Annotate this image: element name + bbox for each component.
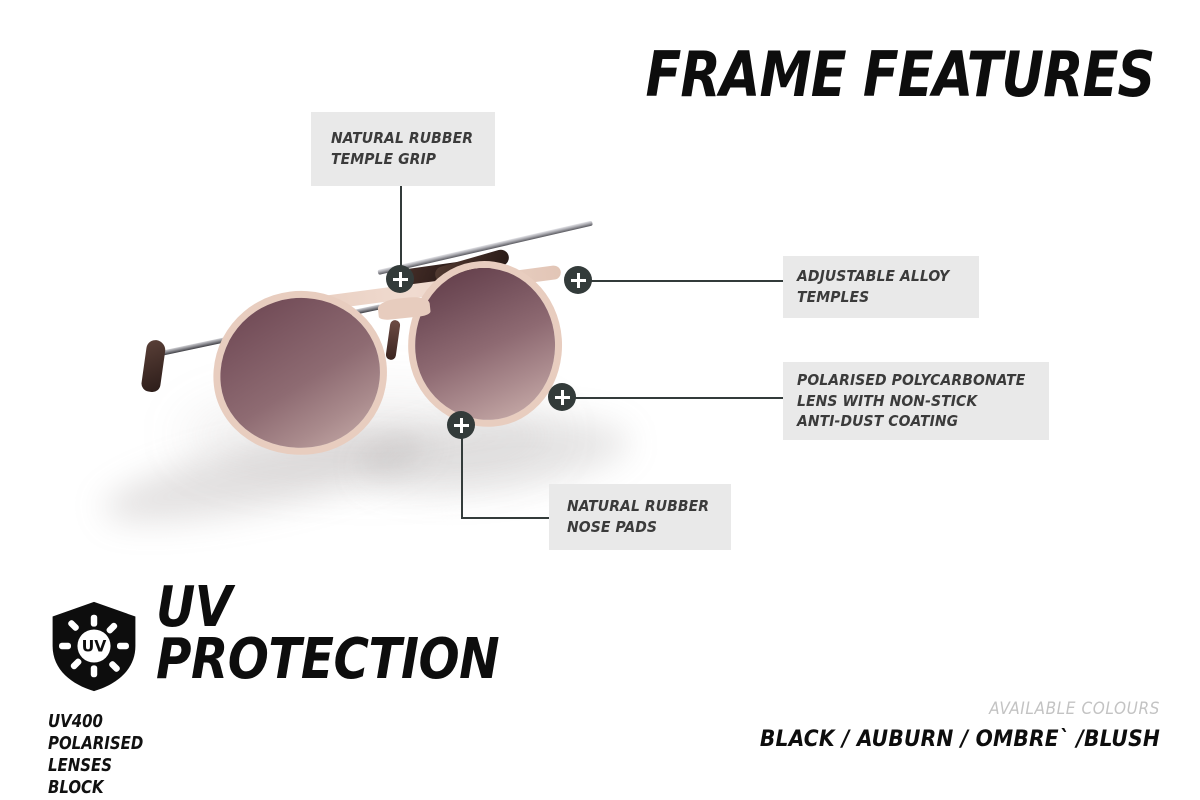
leader-line-nose-pads-vertical (461, 436, 463, 518)
available-colours-block: AVAILABLE COLOURS BLACK / AUBURN / OMBRE… (760, 699, 1160, 752)
callout-label-nose-pads: NATURAL RUBBER NOSE PADS (567, 496, 709, 538)
infographic-page: FRAME FEATURES NATURAL RUBBER TEMPLE GRI… (0, 0, 1200, 800)
plus-icon-nose-pads[interactable] (447, 411, 475, 439)
uv-protection-heading: UV PROTECTION (156, 582, 499, 685)
callout-label-temple-grip: NATURAL RUBBER TEMPLE GRIP (331, 128, 473, 170)
leader-line-lens (574, 397, 784, 399)
uv-badge-text: UV (82, 637, 108, 656)
leader-line-temple-grip (400, 186, 402, 268)
uv-protection-subtext: UV400 POLARISED LENSES BLOCK 99.9% OF HA… (48, 712, 143, 800)
callout-temple-grip: NATURAL RUBBER TEMPLE GRIP (311, 112, 495, 186)
available-colours-value: BLACK / AUBURN / OMBRE` /BLUSH (760, 726, 1160, 752)
leader-line-nose-pads-horizontal (461, 517, 551, 519)
rubber-temple-grip-front (140, 339, 166, 393)
available-colours-label: AVAILABLE COLOURS (760, 699, 1160, 719)
callout-lens: POLARISED POLYCARBONATE LENS WITH NON-ST… (783, 362, 1049, 440)
plus-icon-alloy-temples[interactable] (564, 266, 592, 294)
uv-shield-icon: UV (48, 600, 140, 692)
page-title: FRAME FEATURES (645, 38, 1154, 111)
callout-label-lens: POLARISED POLYCARBONATE LENS WITH NON-ST… (797, 370, 1025, 432)
plus-icon-temple-grip[interactable] (386, 265, 414, 293)
callout-nose-pads: NATURAL RUBBER NOSE PADS (549, 484, 731, 550)
callout-alloy-temples: ADJUSTABLE ALLOY TEMPLES (783, 256, 979, 318)
callout-label-alloy-temples: ADJUSTABLE ALLOY TEMPLES (797, 266, 949, 308)
plus-icon-lens[interactable] (548, 383, 576, 411)
rubber-nose-pad (385, 319, 400, 360)
leader-line-alloy-temples (590, 280, 784, 282)
